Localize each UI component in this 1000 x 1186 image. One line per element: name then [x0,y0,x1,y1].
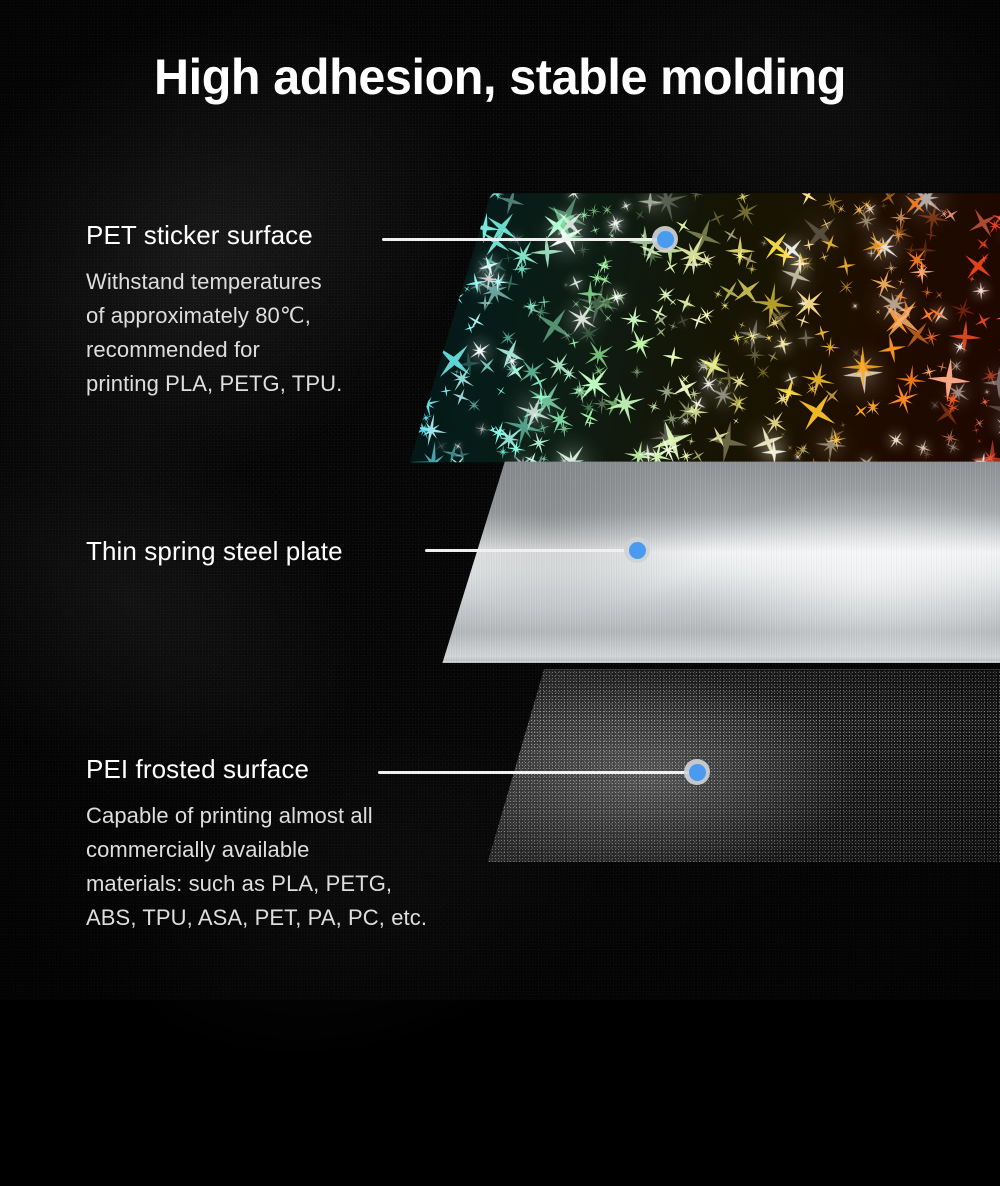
sparkle-icon [685,385,704,404]
pei-top-edge [485,668,1000,670]
callout-body-line: materials: such as PLA, PETG, [86,867,427,901]
sparkle-icon [970,424,981,435]
sparkle-icon [912,237,937,262]
callout-body-line: printing PLA, PETG, TPU. [86,367,342,401]
marker-dot-core [629,542,646,559]
callout-body-line: ABS, TPU, ASA, PET, PA, PC, etc. [86,901,427,935]
sparkle-icon [919,445,936,462]
sparkle-icon [947,319,983,355]
sparkle-icon [630,365,644,379]
sparkle-icon [892,288,909,305]
callout-pet-sticker-surface: PET sticker surface Withstand temperatur… [86,220,342,401]
callout-body-line: recommended for [86,333,342,367]
sparkle-icon [504,437,527,460]
callout-body: Capable of printing almost all commercia… [86,799,427,935]
steel-brushed-texture [440,460,1000,665]
steel-bottom-edge [440,661,1000,665]
marker-dot-pei[interactable] [684,759,710,785]
sparkle-icon [575,242,592,259]
sparkle-icon [537,295,551,309]
sparkle-icon [819,335,842,358]
sparkle-icon [834,254,857,277]
holographic-pet-sticker-layer [400,190,1000,465]
marker-dot-core [689,764,706,781]
marker-dot-core [657,231,674,248]
callout-heading: Thin spring steel plate [86,536,343,567]
callout-body-line: commercially available [86,833,427,867]
sparkle-icon [850,301,861,312]
spring-steel-plate-layer [440,460,1000,665]
leader-line-steel [425,549,639,552]
callout-thin-spring-steel-plate: Thin spring steel plate [86,536,343,567]
callout-body-line: Capable of printing almost all [86,799,427,833]
sparkle-icon [453,368,460,375]
sparkle-icon [884,261,898,275]
sparkle-icon [882,427,909,454]
pet-sparkle-pattern [400,190,1000,465]
callout-body-line: Withstand temperatures [86,265,342,299]
sparkle-icon [661,345,686,370]
sparkle-icon [995,310,1000,325]
pei-frosted-layer [485,668,1000,866]
leader-line-pet [382,238,667,241]
marker-dot-pet[interactable] [652,226,678,252]
callout-body-line: of approximately 80℃, [86,299,342,333]
sparkle-icon [494,384,509,399]
sparkle-icon [717,366,740,389]
callout-heading: PET sticker surface [86,220,342,251]
sparkle-icon [867,399,879,411]
callout-heading: PEI frosted surface [86,754,427,785]
sparkle-icon [832,274,859,301]
pei-light-overlay [485,668,1000,866]
sparkle-icon [734,316,772,354]
sparkle-icon [703,417,752,465]
callout-pei-frosted-surface: PEI frosted surface Capable of printing … [86,754,427,935]
sparkle-icon [653,377,682,406]
marker-dot-steel[interactable] [624,537,650,563]
sparkle-icon [716,298,733,315]
callout-body: Withstand temperatures of approximately … [86,265,342,401]
sparkle-icon [554,420,573,439]
